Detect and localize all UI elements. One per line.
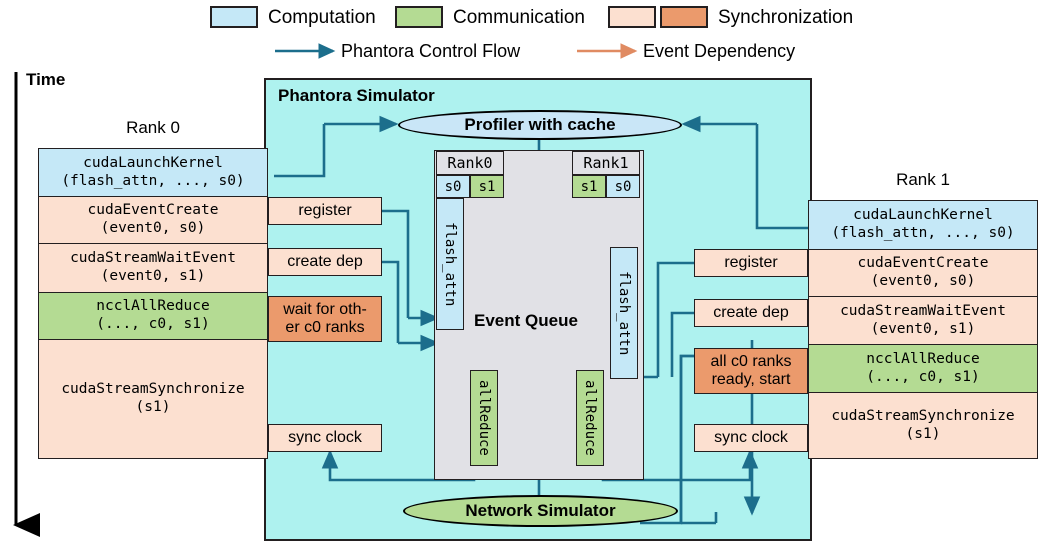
time-axis-label: Time: [26, 70, 65, 90]
rank0-title: Rank 0: [38, 118, 268, 138]
rank1-table: cudaLaunchKernel (flash_attn, ..., s0) c…: [808, 200, 1038, 459]
event-queue-label: Event Queue: [474, 311, 578, 331]
rank1-title: Rank 1: [808, 170, 1038, 190]
rank0-row-1-line1: cudaEventCreate: [88, 202, 219, 220]
op-left-create-dep-label: create dep: [287, 253, 363, 271]
rank0-row-0-line1: cudaLaunchKernel: [83, 155, 223, 173]
queue-rank1-task-flash-attn: flash_attn: [610, 247, 638, 379]
queue-rank0-task-flash-attn: flash_attn: [436, 198, 464, 330]
legend-swatch-synchronization-light: [608, 6, 656, 28]
rank0-row-4-line1: cudaStreamSynchronize: [61, 381, 244, 399]
queue-rank1-stream-s0: s0: [606, 175, 640, 198]
op-right-sync-clock-label: sync clock: [714, 429, 788, 447]
rank1-row-3-line2: (..., c0, s1): [866, 369, 980, 387]
rank1-row-0[interactable]: cudaLaunchKernel (flash_attn, ..., s0): [808, 200, 1038, 250]
diagram-canvas: Computation Communication Synchronizatio…: [0, 0, 1046, 555]
op-right-sync-clock[interactable]: sync clock: [694, 424, 808, 452]
legend-label-control-flow: Phantora Control Flow: [341, 42, 520, 60]
op-left-sync-clock[interactable]: sync clock: [268, 424, 382, 452]
rank1-row-1-line1: cudaEventCreate: [858, 255, 989, 273]
rank0-table: cudaLaunchKernel (flash_attn, ..., s0) c…: [38, 148, 268, 459]
rank0-row-2-line2: (event0, s1): [101, 268, 206, 286]
rank0-row-3-line1: ncclAllReduce: [96, 298, 210, 316]
time-axis-arrow: [0, 70, 40, 550]
op-right-create-dep-label: create dep: [713, 304, 789, 322]
op-right-all-ranks-ready-label: all c0 ranksready, start: [711, 353, 792, 390]
op-left-register-label: register: [298, 202, 351, 220]
rank0-row-2-line1: cudaStreamWaitEvent: [70, 250, 236, 268]
rank0-row-0[interactable]: cudaLaunchKernel (flash_attn, ..., s0): [38, 148, 268, 197]
op-left-register[interactable]: register: [268, 197, 382, 225]
op-left-sync-clock-label: sync clock: [288, 429, 362, 447]
legend-swatch-computation: [210, 6, 258, 28]
queue-rank0-task-allreduce: allReduce: [470, 370, 498, 466]
queue-rank1-stream-s1: s1: [572, 175, 606, 198]
queue-rank1-header: Rank1: [572, 151, 640, 175]
rank1-row-2-line1: cudaStreamWaitEvent: [840, 303, 1006, 321]
queue-rank0-header: Rank0: [436, 151, 504, 175]
op-left-wait-for-other-ranks[interactable]: wait for oth-er c0 ranks: [268, 296, 382, 342]
rank0-row-1-line2: (event0, s0): [101, 220, 206, 238]
rank1-row-3[interactable]: ncclAllReduce (..., c0, s1): [808, 344, 1038, 394]
rank1-row-4-line1: cudaStreamSynchronize: [831, 408, 1014, 426]
op-left-wait-label: wait for oth-er c0 ranks: [283, 301, 367, 338]
rank0-row-2[interactable]: cudaStreamWaitEvent (event0, s1): [38, 243, 268, 293]
op-right-register[interactable]: register: [694, 249, 808, 277]
queue-rank1-task-allreduce: allReduce: [576, 370, 604, 466]
op-right-all-ranks-ready[interactable]: all c0 ranksready, start: [694, 348, 808, 394]
legend-swatch-synchronization-dark: [660, 6, 708, 28]
legend-label-communication: Communication: [453, 8, 585, 27]
op-left-create-dep[interactable]: create dep: [268, 248, 382, 276]
op-right-create-dep[interactable]: create dep: [694, 299, 808, 327]
rank1-row-2-line2: (event0, s1): [871, 321, 976, 339]
rank1-row-4[interactable]: cudaStreamSynchronize (s1): [808, 392, 1038, 459]
rank0-row-0-line2: (flash_attn, ..., s0): [61, 173, 244, 191]
rank0-row-4-line2: (s1): [136, 399, 171, 417]
legend-swatch-communication: [395, 6, 443, 28]
legend-label-event-dependency: Event Dependency: [643, 42, 795, 60]
rank1-row-0-line2: (flash_attn, ..., s0): [831, 225, 1014, 243]
rank1-row-4-line2: (s1): [906, 426, 941, 444]
network-simulator-node[interactable]: Network Simulator: [403, 495, 678, 527]
legend-label-computation: Computation: [268, 8, 376, 27]
legend-label-synchronization: Synchronization: [718, 8, 853, 27]
rank1-row-3-line1: ncclAllReduce: [866, 351, 980, 369]
rank0-row-4[interactable]: cudaStreamSynchronize (s1): [38, 339, 268, 459]
queue-rank0-stream-s1: s1: [470, 175, 504, 198]
rank0-row-1[interactable]: cudaEventCreate (event0, s0): [38, 196, 268, 245]
rank1-row-1[interactable]: cudaEventCreate (event0, s0): [808, 249, 1038, 298]
phantora-simulator-title: Phantora Simulator: [278, 86, 435, 106]
rank1-row-1-line2: (event0, s0): [871, 273, 976, 291]
queue-rank0-stream-s0: s0: [436, 175, 470, 198]
rank0-row-3[interactable]: ncclAllReduce (..., c0, s1): [38, 292, 268, 341]
rank1-row-2[interactable]: cudaStreamWaitEvent (event0, s1): [808, 296, 1038, 345]
rank1-row-0-line1: cudaLaunchKernel: [853, 207, 993, 225]
op-right-register-label: register: [724, 254, 777, 272]
profiler-with-cache-node[interactable]: Profiler with cache: [398, 110, 682, 140]
rank0-row-3-line2: (..., c0, s1): [96, 316, 210, 334]
